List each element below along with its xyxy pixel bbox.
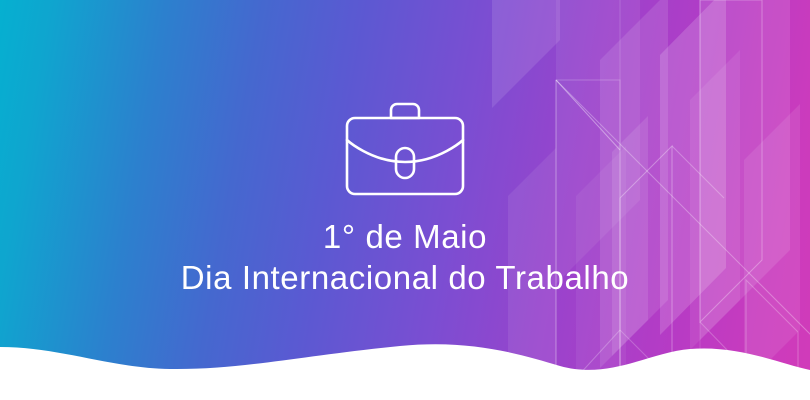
briefcase-body-icon <box>347 118 463 194</box>
wave-path <box>0 344 810 400</box>
briefcase-handle-icon <box>391 104 419 118</box>
briefcase-flap-icon <box>347 140 463 162</box>
headline-block: 1° de Maio Dia Internacional do Trabalho <box>181 216 630 298</box>
briefcase-icon <box>337 88 473 204</box>
labor-day-banner: 1° de Maio Dia Internacional do Trabalho <box>0 0 810 400</box>
headline-line-2: Dia Internacional do Trabalho <box>181 257 630 298</box>
bottom-wave-divider <box>0 340 810 400</box>
headline-line-1: 1° de Maio <box>181 216 630 257</box>
